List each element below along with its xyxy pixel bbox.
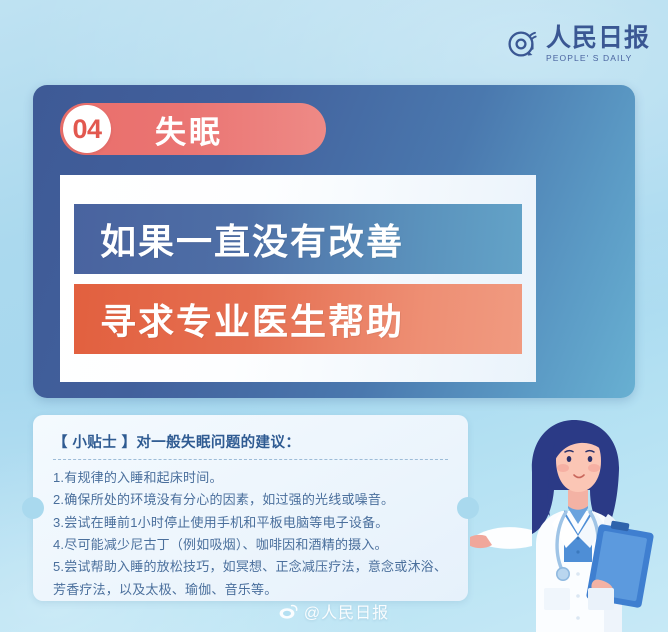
main-card: 04 失眠 如果一直没有改善 寻求专业医生帮助 bbox=[33, 85, 635, 398]
list-item: 2.确保所处的环境没有分心的因素，如过强的光线或噪音。 bbox=[53, 489, 448, 511]
list-item: 3.尝试在睡前1小时停止使用手机和平板电脑等电子设备。 bbox=[53, 512, 448, 534]
list-item: 5.尝试帮助入睡的放松技巧，如冥想、正念减压疗法，意念或沐浴、芳香疗法，以及太极… bbox=[53, 556, 448, 601]
statement-panel: 如果一直没有改善 寻求专业医生帮助 bbox=[60, 175, 536, 382]
tips-divider bbox=[53, 459, 448, 460]
at-signal-icon bbox=[506, 28, 540, 62]
section-number-badge: 04 bbox=[63, 105, 111, 153]
masthead-logo: 人民日报 PEOPLE' S DAILY bbox=[506, 26, 650, 63]
statement-advice: 寻求专业医生帮助 bbox=[74, 284, 522, 354]
ticket-notch-left bbox=[22, 497, 44, 519]
masthead-en-name: PEOPLE' S DAILY bbox=[546, 54, 650, 63]
infographic-poster: 人民日报 PEOPLE' S DAILY 04 失眠 如果一直没有改善 寻求专业… bbox=[0, 0, 668, 632]
tips-heading: 【 小贴士 】对一般失眠问题的建议： bbox=[53, 431, 448, 452]
list-item: 1.有规律的入睡和起床时间。 bbox=[53, 467, 448, 489]
list-item: 4.尽可能减少尼古丁（例如吸烟）、咖啡因和酒精的摄入。 bbox=[53, 534, 448, 556]
masthead-cn-name: 人民日报 bbox=[546, 26, 650, 51]
tips-list: 1.有规律的入睡和起床时间。 2.确保所处的环境没有分心的因素，如过强的光线或噪… bbox=[53, 467, 448, 601]
weibo-watermark: @人民日报 bbox=[0, 599, 668, 623]
watermark-text: @人民日报 bbox=[304, 599, 389, 623]
tips-card: 【 小贴士 】对一般失眠问题的建议： 1.有规律的入睡和起床时间。 2.确保所处… bbox=[33, 415, 468, 601]
statement-condition: 如果一直没有改善 bbox=[74, 204, 522, 274]
weibo-icon bbox=[279, 604, 298, 619]
masthead-wordmark: 人民日报 PEOPLE' S DAILY bbox=[546, 26, 650, 63]
section-title: 失眠 bbox=[155, 107, 223, 152]
section-title-pill: 04 失眠 bbox=[60, 103, 326, 155]
